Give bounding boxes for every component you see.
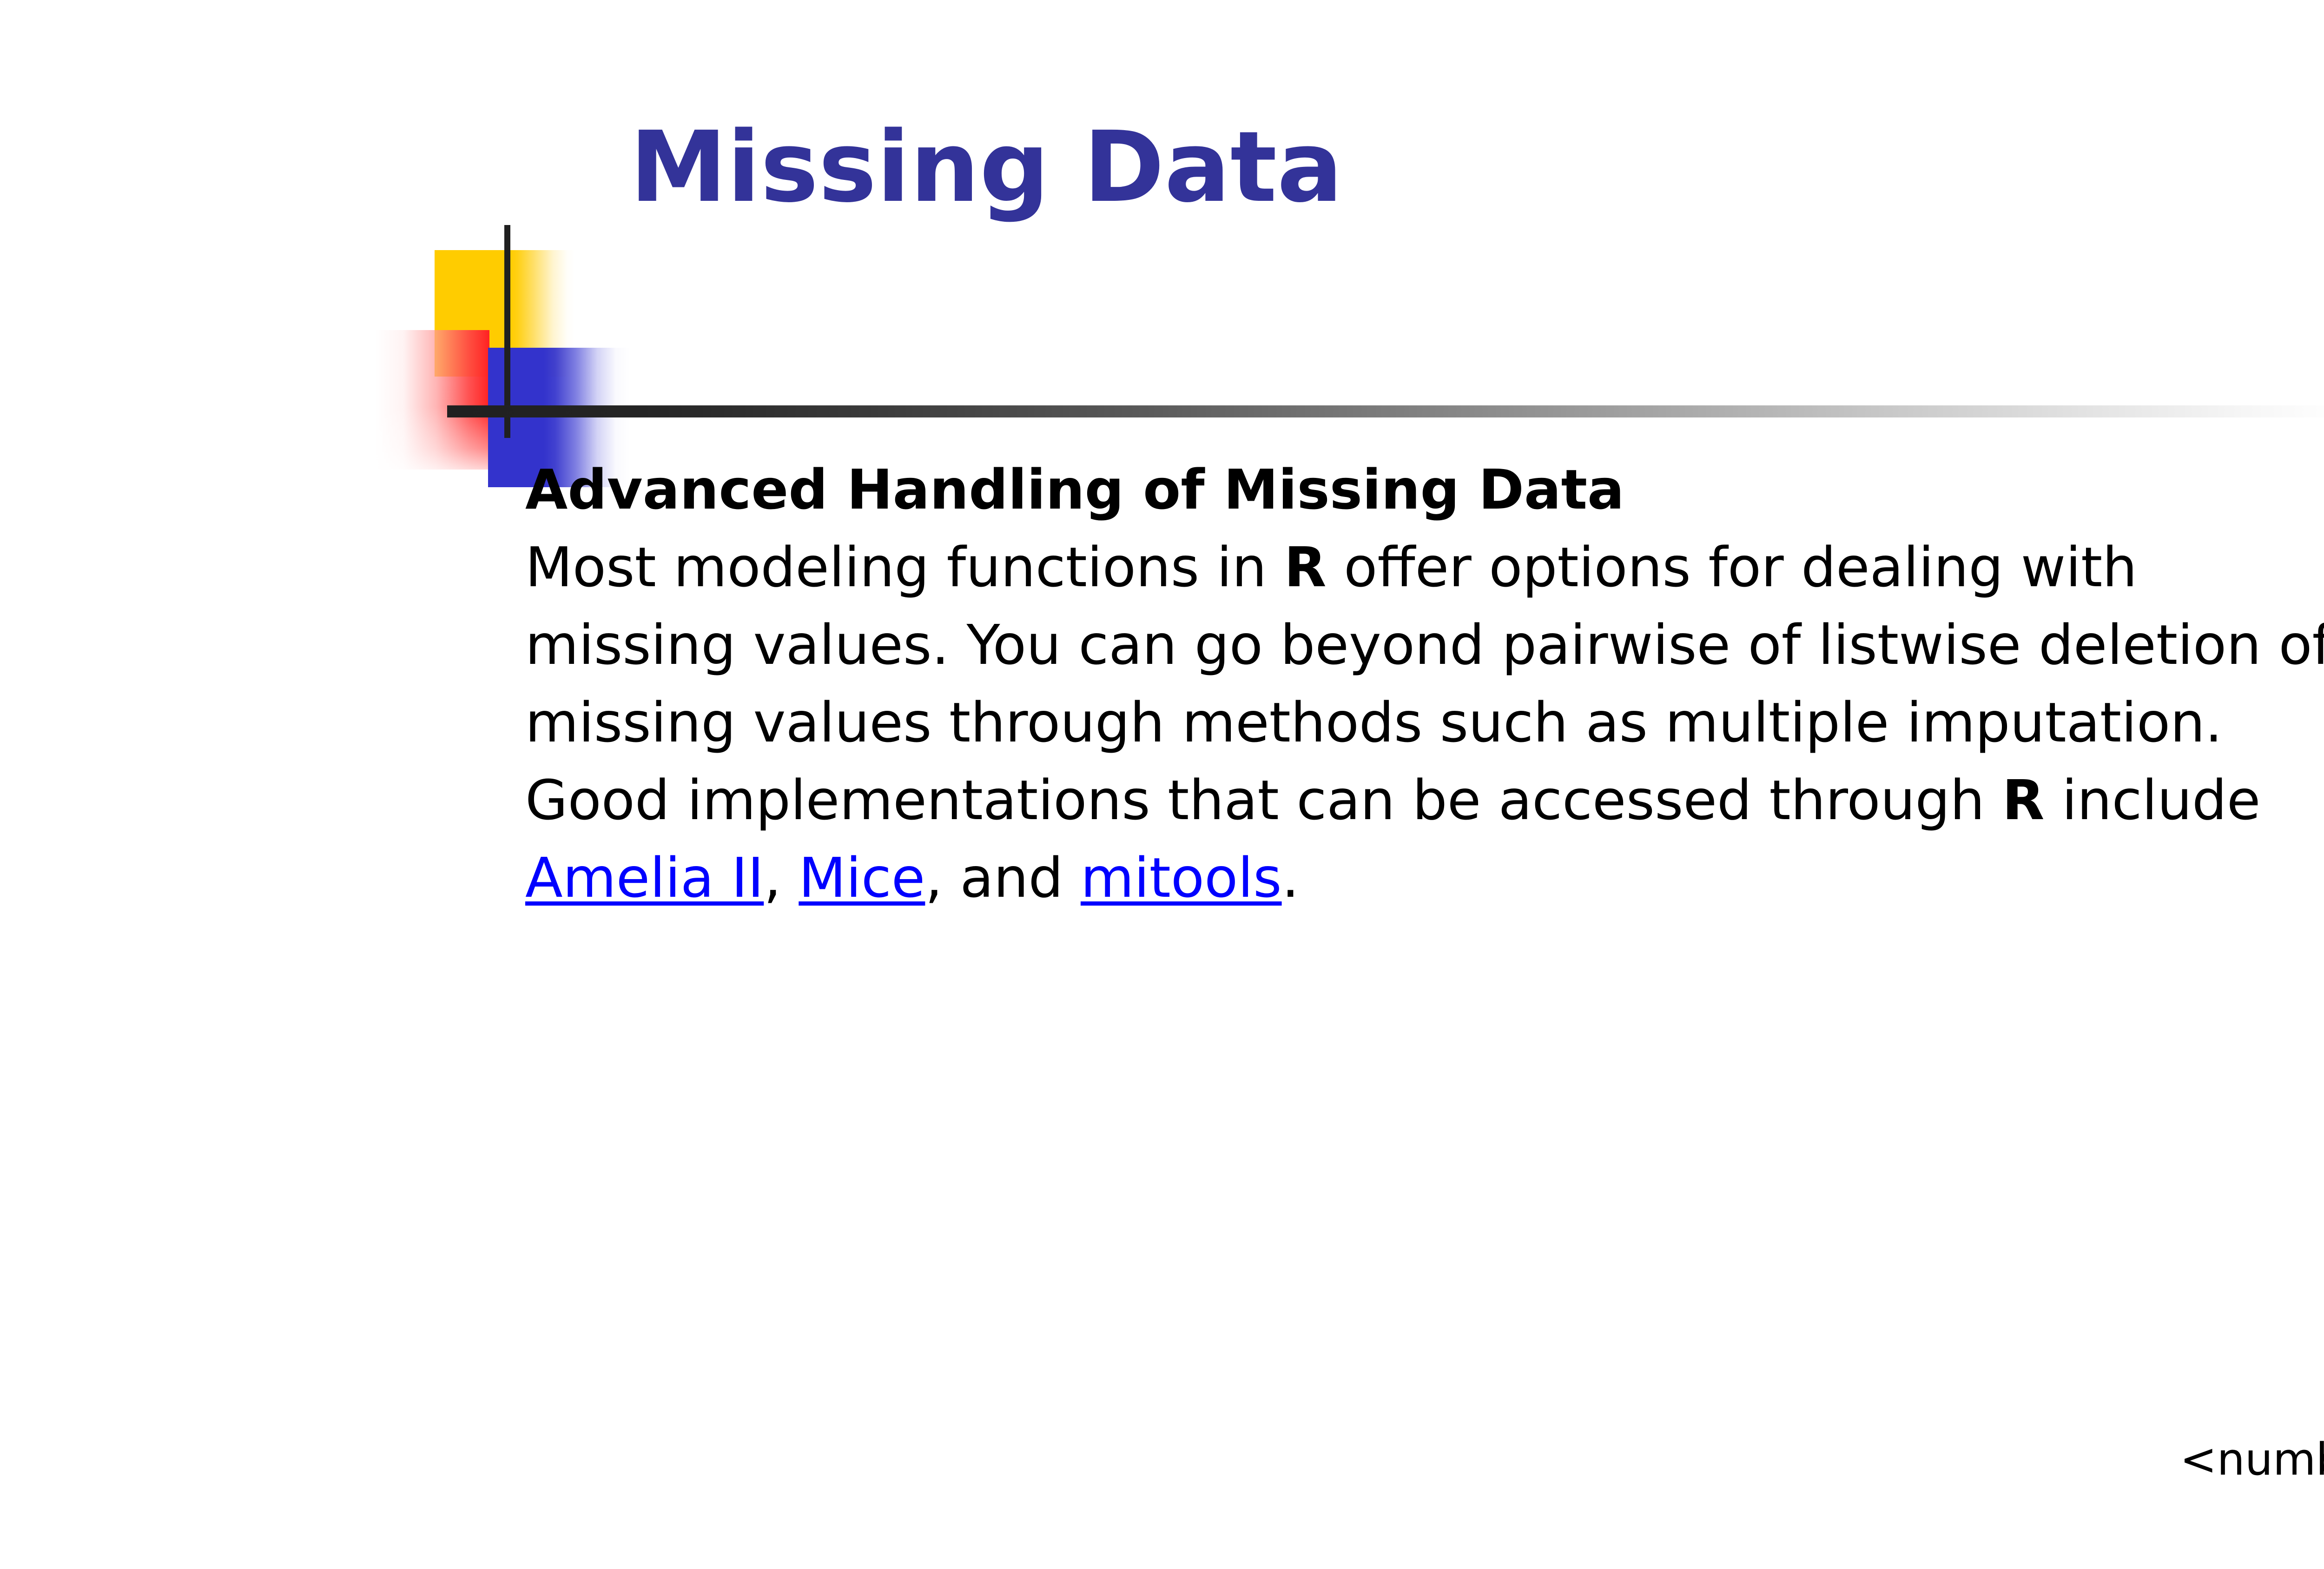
red-square-decor — [376, 330, 489, 470]
body-text-segment: include — [2044, 768, 2260, 832]
link-mitools[interactable]: mitools — [1081, 846, 1282, 910]
body-text-segment: missing values through methods such as m… — [525, 690, 2222, 755]
body-text-segment: , — [764, 846, 799, 910]
body-text-segment: missing values. You can go beyond pairwi… — [525, 613, 2324, 677]
body-text-segment: Most modeling functions in — [525, 535, 1284, 599]
r-language-mark: R — [2002, 768, 2045, 832]
link-amelia-ii[interactable]: Amelia II — [525, 846, 764, 910]
slide-title: Missing Data — [630, 119, 1343, 216]
body-line-4: Good implementations that can be accesse… — [525, 761, 2324, 839]
slide-body: Advanced Handling of Missing Data Most m… — [525, 451, 2324, 917]
horizontal-rule-decor — [447, 405, 2324, 417]
yellow-square-decor — [435, 250, 575, 377]
red-square-fade-overlay — [376, 330, 489, 470]
slide-decoration-graphic — [0, 0, 2324, 511]
slide-number-placeholder: <number> — [2180, 1434, 2324, 1485]
body-text-segment: . — [1282, 846, 1300, 910]
body-text-segment: offer options for dealing with — [1327, 535, 2137, 599]
body-line-3: missing values through methods such as m… — [525, 684, 2324, 761]
body-line-2: missing values. You can go beyond pairwi… — [525, 606, 2324, 684]
body-line-5: Amelia II, Mice, and mitools. — [525, 839, 2324, 917]
r-language-mark: R — [1284, 535, 1327, 599]
link-mice[interactable]: Mice — [799, 846, 925, 910]
body-heading: Advanced Handling of Missing Data — [525, 451, 2324, 529]
body-line-1: Most modeling functions in R offer optio… — [525, 529, 2324, 606]
body-text-segment: Good implementations that can be accesse… — [525, 768, 2002, 832]
slide-canvas: Missing Data Advanced Handling of Missin… — [0, 0, 2324, 1569]
body-text-segment: , and — [925, 846, 1081, 910]
vertical-rule-decor — [504, 225, 510, 438]
